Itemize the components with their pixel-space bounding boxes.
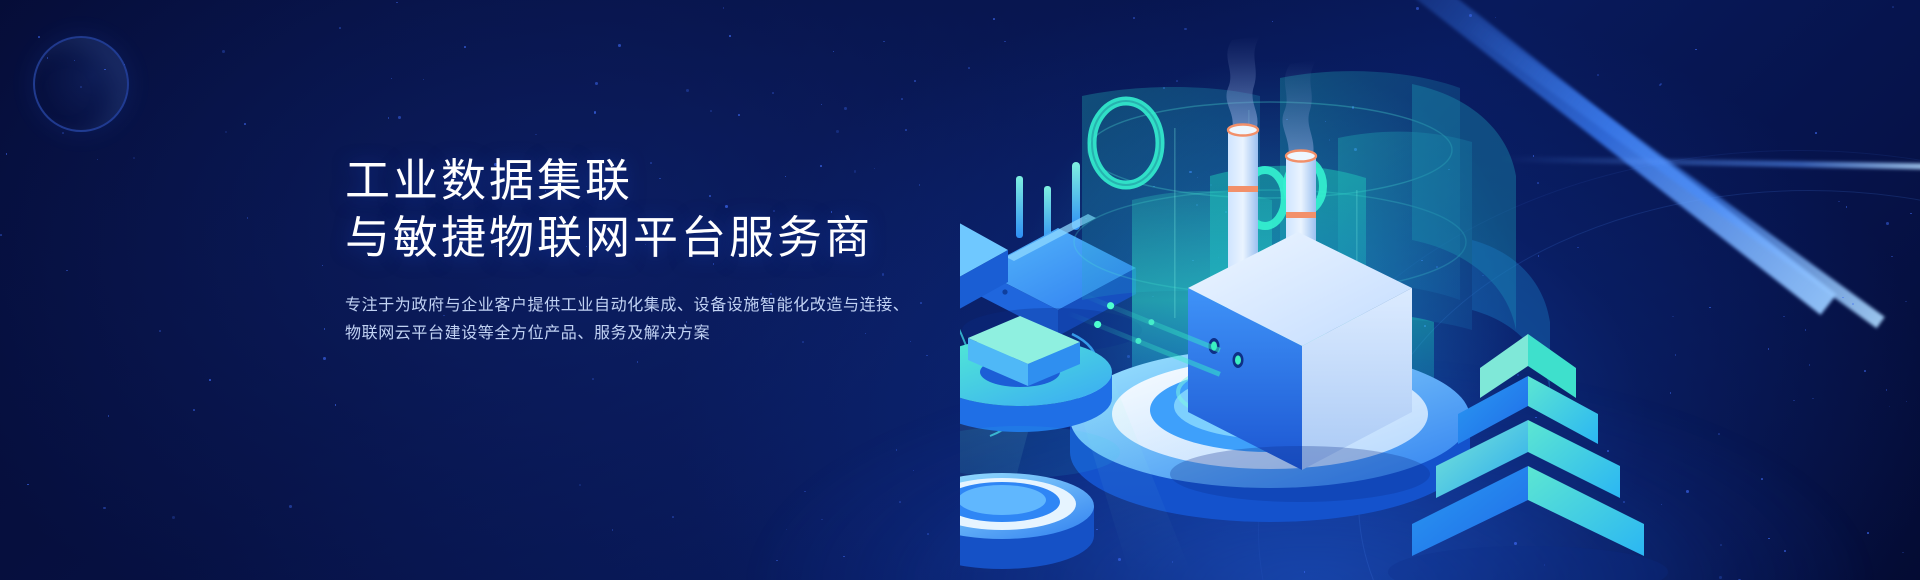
star-dot [905, 129, 907, 131]
star-dot [920, 302, 922, 304]
star-dot [464, 46, 466, 48]
star-dot [172, 516, 175, 519]
star-dot [672, 516, 674, 518]
star-dot [0, 234, 2, 236]
star-dot [738, 114, 740, 116]
star-dot [244, 123, 246, 125]
star-dot [335, 404, 337, 406]
star-dot [612, 529, 614, 531]
hero-subtitle-line2: 物联网云平台建设等全方位产品、服务及解决方案 [345, 320, 909, 348]
star-dot [595, 82, 598, 85]
star-dot [579, 484, 581, 486]
star-dot [535, 134, 537, 136]
iot-illustration [960, 0, 1920, 580]
star-dot [883, 41, 885, 43]
star-dot [729, 35, 731, 37]
star-dot [821, 104, 823, 106]
star-dot [926, 355, 928, 357]
star-dot [423, 79, 425, 81]
star-dot [222, 50, 225, 53]
star-dot [66, 270, 68, 272]
star-dot [901, 98, 903, 100]
star-dot [38, 36, 40, 38]
star-dot [914, 80, 916, 82]
hero-copy: 工业数据集联 与敏捷物联网平台服务商 专注于为政府与企业客户提供工业自动化集成、… [345, 152, 909, 348]
star-dot [6, 153, 8, 155]
star-dot [108, 415, 110, 417]
star-dot [594, 111, 597, 114]
star-dot [97, 159, 99, 161]
star-dot [159, 330, 161, 332]
star-dot [833, 51, 835, 53]
star-dot [225, 131, 228, 134]
star-dot [209, 379, 211, 381]
star-dot [910, 341, 912, 343]
page-title-line2: 与敏捷物联网平台服务商 [345, 209, 909, 266]
page-title-line1: 工业数据集联 [345, 152, 909, 209]
star-dot [62, 132, 64, 134]
star-dot [133, 157, 135, 159]
crescent-moon-icon [33, 36, 129, 132]
star-dot [398, 116, 401, 119]
star-dot [592, 378, 594, 380]
star-dot [686, 89, 689, 92]
star-dot [804, 491, 806, 493]
star-dot [103, 507, 106, 510]
star-dot [388, 117, 390, 119]
star-dot [322, 265, 324, 267]
star-dot [27, 484, 29, 486]
star-dot [396, 2, 398, 4]
star-dot [836, 130, 839, 133]
star-dot [919, 184, 921, 186]
router-antenna [1016, 176, 1023, 238]
hero-banner: 工业数据集联 与敏捷物联网平台服务商 专注于为政府与企业客户提供工业自动化集成、… [0, 0, 1920, 580]
star-dot [324, 328, 326, 330]
star-dot [618, 44, 621, 47]
star-dot [723, 7, 725, 9]
star-dot [637, 361, 639, 363]
small-platform-disc [960, 473, 1094, 569]
star-dot [339, 27, 341, 29]
star-dot [391, 78, 393, 80]
star-dot [193, 409, 195, 411]
star-dot [844, 107, 847, 110]
star-dot [772, 92, 774, 94]
star-dot [323, 357, 326, 360]
hero-subtitle-line1: 专注于为政府与企业客户提供工业自动化集成、设备设施智能化改造与连接、 [345, 292, 909, 320]
star-dot [710, 110, 712, 112]
star-dot [247, 217, 249, 219]
star-dot [289, 505, 292, 508]
